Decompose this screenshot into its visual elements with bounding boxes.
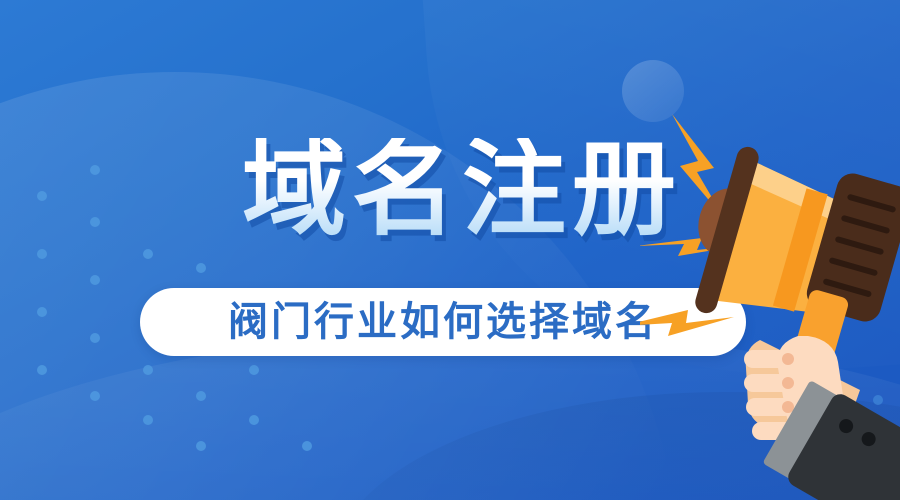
subtitle-text: 阀门行业如何选择域名 [228, 302, 658, 342]
grid-dot [302, 441, 312, 451]
grid-dot [90, 165, 100, 175]
grid-dot [37, 249, 47, 259]
grid-dot [196, 391, 206, 401]
grid-dot [827, 395, 837, 405]
grid-dot [143, 249, 153, 259]
subtitle-pill: 阀门行业如何选择域名 [140, 288, 746, 356]
grid-dot [37, 191, 47, 201]
dot-grid-pattern [0, 0, 900, 500]
grid-dot [873, 395, 883, 405]
domain-registration-banner: 域名注册 阀门行业如何选择域名 [0, 0, 900, 500]
grid-dot [249, 365, 259, 375]
background-decoration-layer [0, 0, 900, 500]
grid-dot [143, 415, 153, 425]
grid-dot [853, 435, 863, 445]
grid-dot [90, 275, 100, 285]
grid-dot [249, 415, 259, 425]
grid-dot [37, 365, 47, 375]
grid-dot [37, 307, 47, 317]
grid-dot [196, 263, 206, 273]
grid-dot [90, 391, 100, 401]
grid-dot [90, 217, 100, 227]
grid-dot [803, 435, 813, 445]
grid-dot [196, 441, 206, 451]
grid-dot [90, 333, 100, 343]
grid-dot [143, 365, 153, 375]
